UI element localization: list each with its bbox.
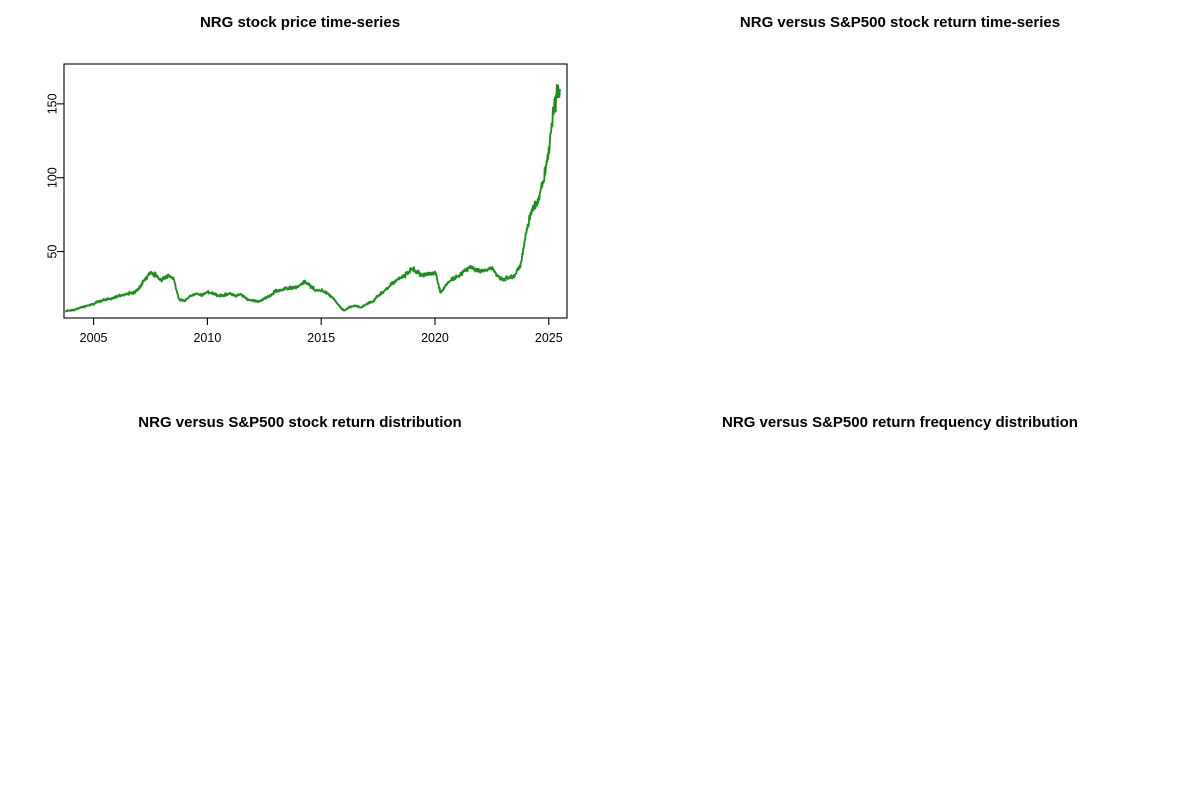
y-tick-label: 100 bbox=[45, 167, 59, 188]
y-tick-label: 50 bbox=[45, 245, 59, 259]
y-tick-label: 150 bbox=[45, 93, 59, 114]
x-tick-label: 2020 bbox=[421, 331, 449, 345]
chart-return-distribution: 0102030405060-0.2-0.10.00.10.2NRG return… bbox=[0, 400, 600, 800]
figure-grid: NRG stock price time-series 501001502005… bbox=[0, 0, 1200, 800]
nrg-price-line bbox=[65, 85, 560, 312]
x-tick-label: 2025 bbox=[535, 331, 563, 345]
x-tick-label: 2005 bbox=[80, 331, 108, 345]
x-tick-label: 2010 bbox=[193, 331, 221, 345]
panel-return-frequency-distribution: NRG versus S&P500 return frequency distr… bbox=[600, 400, 1200, 800]
panel-nrg-gspc-return-timeseries: NRG versus S&P500 stock return time-seri… bbox=[600, 0, 1200, 400]
panel-return-distribution: NRG versus S&P500 stock return distribut… bbox=[0, 400, 600, 800]
chart-nrg-gspc-return-timeseries: -0.2-0.10.00.10.220052010201520202025NRG… bbox=[600, 0, 1200, 400]
panel-nrg-price-timeseries: NRG stock price time-series 501001502005… bbox=[0, 0, 600, 400]
chart-nrg-price-timeseries: 5010015020052010201520202025 bbox=[0, 0, 600, 400]
x-tick-label: 2015 bbox=[307, 331, 335, 345]
plot-box-top-left bbox=[64, 64, 567, 318]
chart-return-frequency-distribution: 05001000150020002500frequency[-0.198,-0.… bbox=[600, 400, 1200, 800]
